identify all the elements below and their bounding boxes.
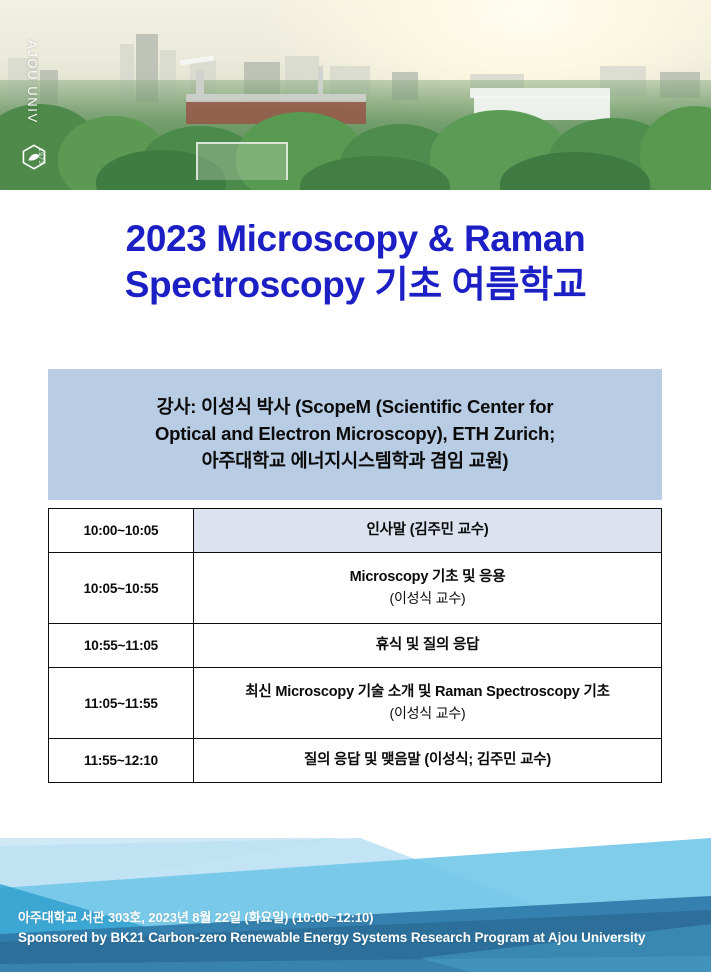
- table-row: 10:55~11:05 휴식 및 질의 응답: [49, 624, 662, 668]
- table-row: 10:05~10:55 Microscopy 기초 및 응용 (이성식 교수): [49, 553, 662, 624]
- row-time: 10:55~11:05: [49, 624, 194, 668]
- watermark-label: AJOU UNIV: [25, 40, 40, 124]
- footer-banner: 아주대학교 서관 303호, 2023년 8월 22일 (화요일) (10:00…: [0, 838, 711, 972]
- row-description-sub: (이성식 교수): [194, 588, 661, 609]
- instructor-text: 강사: 이성식 박사 (ScopeM (Scientific Center fo…: [141, 394, 569, 474]
- footer-shapes: [0, 838, 711, 972]
- instructor-box: 강사: 이성식 박사 (ScopeM (Scientific Center fo…: [48, 369, 662, 500]
- title-line-1: 2023 Microscopy & Raman: [30, 216, 681, 262]
- pergola-structure: [196, 142, 288, 180]
- header-campus-photo: AJOU UNIV 1973: [0, 0, 711, 190]
- row-time: 11:55~12:10: [49, 739, 194, 783]
- table-row: 11:05~11:55 최신 Microscopy 기술 소개 및 Raman …: [49, 668, 662, 739]
- row-description: 인사말 (김주민 교수): [194, 509, 662, 553]
- instructor-line-3: 아주대학교 에너지시스템학과 겸임 교원): [155, 448, 555, 475]
- row-description-main: 휴식 및 질의 응답: [194, 635, 661, 657]
- schedule-table: 10:00~10:05 인사말 (김주민 교수) 10:05~10:55 Mic…: [48, 508, 662, 783]
- footer-line-2: Sponsored by BK21 Carbon-zero Renewable …: [18, 928, 645, 948]
- table-row: 10:00~10:05 인사말 (김주민 교수): [49, 509, 662, 553]
- row-description: Microscopy 기초 및 응용 (이성식 교수): [194, 553, 662, 624]
- poster-title: 2023 Microscopy & Raman Spectroscopy 기초 …: [30, 216, 681, 309]
- footer-text: 아주대학교 서관 303호, 2023년 8월 22일 (화요일) (10:00…: [18, 908, 645, 948]
- row-description-main: 최신 Microscopy 기술 소개 및 Raman Spectroscopy…: [194, 682, 661, 704]
- row-time: 11:05~11:55: [49, 668, 194, 739]
- row-description-main: 질의 응답 및 맺음말 (이성식; 김주민 교수): [194, 750, 661, 772]
- row-description-sub: (이성식 교수): [194, 703, 661, 724]
- row-time: 10:00~10:05: [49, 509, 194, 553]
- row-description: 질의 응답 및 맺음말 (이성식; 김주민 교수): [194, 739, 662, 783]
- footer-line-1: 아주대학교 서관 303호, 2023년 8월 22일 (화요일) (10:00…: [18, 908, 645, 928]
- row-description-main: 인사말 (김주민 교수): [194, 520, 661, 542]
- instructor-line-2: Optical and Electron Microscopy), ETH Zu…: [155, 421, 555, 448]
- instructor-line-1: 강사: 이성식 박사 (ScopeM (Scientific Center fo…: [155, 394, 555, 421]
- title-line-2: Spectroscopy 기초 여름학교: [30, 262, 681, 308]
- table-row: 11:55~12:10 질의 응답 및 맺음말 (이성식; 김주민 교수): [49, 739, 662, 783]
- row-description: 휴식 및 질의 응답: [194, 624, 662, 668]
- row-time: 10:05~10:55: [49, 553, 194, 624]
- row-description-main: Microscopy 기초 및 응용: [194, 567, 661, 589]
- watermark-year: 1973: [37, 148, 44, 164]
- row-description: 최신 Microscopy 기술 소개 및 Raman Spectroscopy…: [194, 668, 662, 739]
